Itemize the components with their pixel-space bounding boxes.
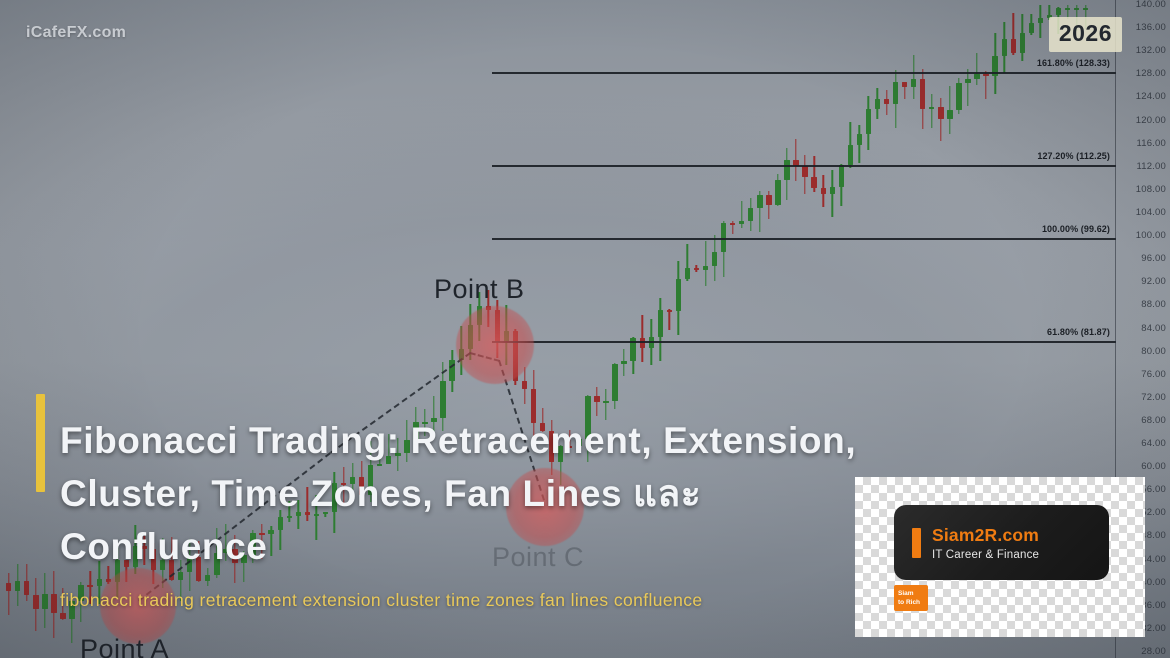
page-title: Fibonacci Trading: Retracement, Extensio… [60, 414, 890, 573]
brand-badge: Siam to Rich [894, 585, 928, 611]
site-watermark: iCafeFX.com [26, 24, 126, 42]
year-badge: 2026 [1049, 17, 1122, 52]
brand-accent-bar [912, 528, 921, 558]
screenshot-root: 161.80% (128.33)127.20% (112.25)100.00% … [0, 0, 1170, 658]
brand-logo-plate: Siam2R.com IT Career & Finance [894, 505, 1109, 580]
brand-logo-card: Siam2R.com IT Career & Finance Siam to R… [855, 477, 1145, 637]
brand-tagline: IT Career & Finance [932, 549, 1039, 561]
keyword-list: fibonacci trading retracement extension … [60, 590, 940, 611]
brand-name: Siam2R.com [932, 525, 1039, 546]
brand-badge-line1: Siam [898, 590, 914, 597]
title-accent-bar [36, 394, 45, 492]
brand-badge-line2: to Rich [898, 599, 920, 606]
